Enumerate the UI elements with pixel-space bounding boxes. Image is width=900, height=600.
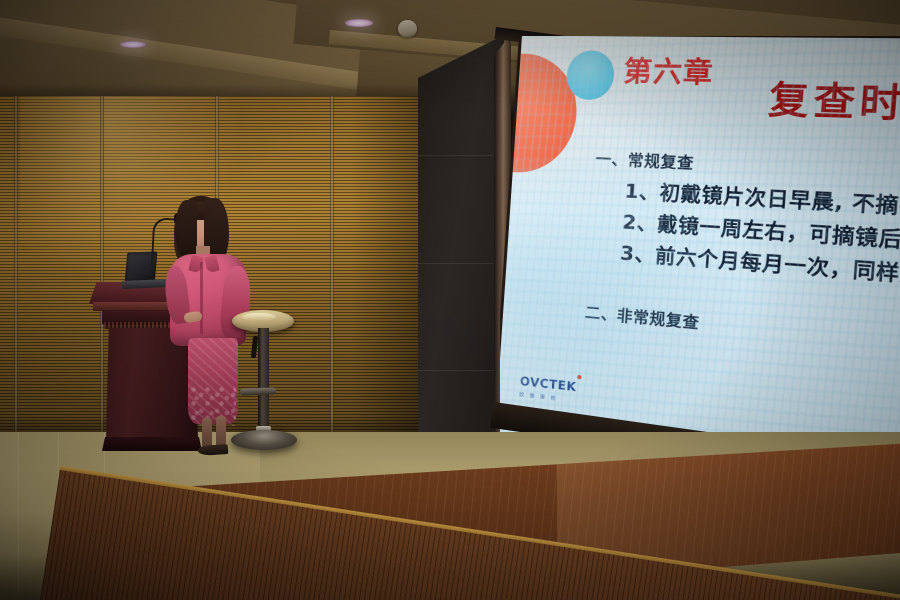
projection-screen: 第六章 复查时间 一、常规复查 1、初戴镜片次日早晨, 不摘镜片 2、戴镜一周左… [500,36,900,456]
slide-title: 复查时间 [767,70,900,131]
presenter-skirt-lace [190,386,236,426]
ceiling-downlight-icon [345,19,373,27]
slide-logo-dot-icon [577,375,581,379]
smoke-detector-icon [398,20,417,37]
slide-body: 一、常规复查 1、初戴镜片次日早晨, 不摘镜片 2、戴镜一周左右，可摘镜后或戴镜… [588,147,900,298]
ceiling-downlight-icon [120,41,146,48]
bar-stool [232,310,296,458]
presenter-hair-left [175,200,197,258]
stool-footrest [240,387,276,395]
slide-logo: OVCTEK 欧 普 康 视 [519,372,577,404]
slide-blue-circle-icon [565,50,615,100]
slide-section-heading-two: 二、非常规复查 [584,301,700,333]
stool-post [258,328,269,434]
stool-seat-highlight [242,313,276,321]
presenter-shoe [198,444,229,456]
dark-wall-panel [418,35,504,465]
wall-seam [330,96,334,456]
presenter-blouse-placket [200,262,203,334]
stool-base [231,430,297,450]
projection-screen-area: 第六章 复查时间 一、常规复查 1、初戴镜片次日早晨, 不摘镜片 2、戴镜一周左… [500,36,900,456]
photo-scene: 第六章 复查时间 一、常规复查 1、初戴镜片次日早晨, 不摘镜片 2、戴镜一周左… [0,0,900,600]
slide-logo-wordmark: OVCTEK [520,375,577,393]
wall-seam [14,96,18,456]
slide-chapter-label: 第六章 [622,49,715,92]
